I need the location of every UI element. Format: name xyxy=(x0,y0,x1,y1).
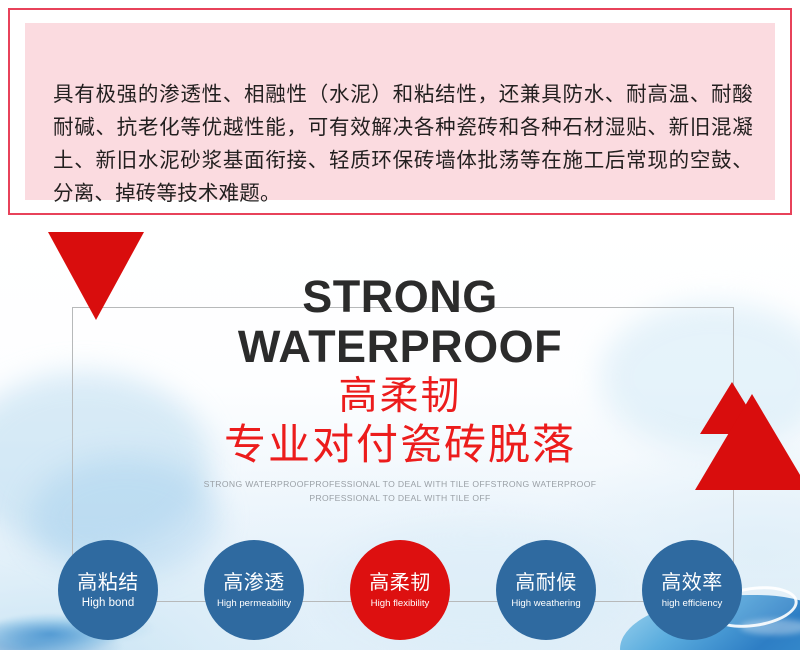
description-panel-fill: 具有极强的渗透性、相融性（水泥）和粘结性，还兼具防水、耐高温、耐酸耐碱、抗老化等… xyxy=(25,23,775,200)
feature-label-cn: 高渗透 xyxy=(223,570,285,594)
headline-english-line-2: WATERPROOF xyxy=(0,322,800,372)
headline-chinese-line-1: 高柔韧 xyxy=(0,374,800,420)
feature-circle-list: 高粘结 High bond 高渗透 High permeability 高柔韧 … xyxy=(0,540,800,650)
feature-label-en: High weathering xyxy=(511,596,580,611)
sub-caption-line-1: STRONG WATERPROOFPROFESSIONAL TO DEAL WI… xyxy=(150,477,650,491)
headline-english-line-1: STRONG xyxy=(0,272,800,322)
feature-circle-high-weathering[interactable]: 高耐候 High weathering xyxy=(496,540,596,640)
description-panel: 具有极强的渗透性、相融性（水泥）和粘结性，还兼具防水、耐高温、耐酸耐碱、抗老化等… xyxy=(8,8,792,215)
feature-circle-high-bond[interactable]: 高粘结 High bond xyxy=(58,540,158,640)
sub-caption-line-2: PROFESSIONAL TO DEAL WITH TILE OFF xyxy=(150,491,650,505)
feature-circle-high-flexibility[interactable]: 高柔韧 High flexibility xyxy=(350,540,450,640)
feature-circle-high-efficiency[interactable]: 高效率 high efficiency xyxy=(642,540,742,640)
product-detail-banner: 具有极强的渗透性、相融性（水泥）和粘结性，还兼具防水、耐高温、耐酸耐碱、抗老化等… xyxy=(0,0,800,650)
sub-caption: STRONG WATERPROOFPROFESSIONAL TO DEAL WI… xyxy=(150,477,650,505)
feature-label-en: High permeability xyxy=(217,596,291,611)
feature-label-cn: 高粘结 xyxy=(77,570,139,594)
feature-label-en: High flexibility xyxy=(371,596,430,611)
waterproof-banner: STRONG WATERPROOF 高柔韧 专业对付瓷砖脱落 STRONG WA… xyxy=(0,222,800,650)
feature-circle-high-permeability[interactable]: 高渗透 High permeability xyxy=(204,540,304,640)
feature-label-en: high efficiency xyxy=(662,596,723,611)
headline-block: STRONG WATERPROOF 高柔韧 专业对付瓷砖脱落 xyxy=(0,272,800,470)
feature-label-cn: 高耐候 xyxy=(515,570,577,594)
description-text: 具有极强的渗透性、相融性（水泥）和粘结性，还兼具防水、耐高温、耐酸耐碱、抗老化等… xyxy=(53,78,753,210)
headline-chinese-line-2: 专业对付瓷砖脱落 xyxy=(0,420,800,470)
feature-label-cn: 高柔韧 xyxy=(369,570,431,594)
feature-label-cn: 高效率 xyxy=(661,570,723,594)
feature-label-en: High bond xyxy=(82,596,134,611)
